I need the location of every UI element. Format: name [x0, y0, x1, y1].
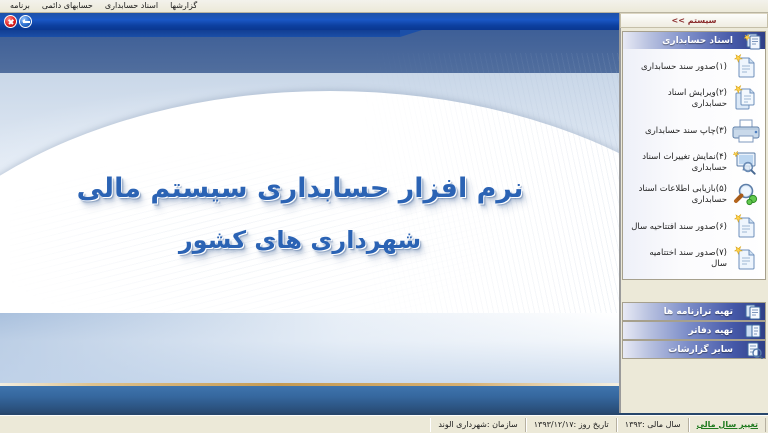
navigation-side-panel: سیستم >> اسناد حسابداری: [620, 13, 768, 415]
panel-group-balance-sheets: تهیه ترازنامه ها: [622, 302, 766, 321]
balance-sheet-icon: [743, 303, 763, 321]
application-window: برنامه حسابهای دائمی اسناد حسابداری گزار…: [0, 0, 768, 433]
menu-item-sanad-eftetahieh[interactable]: (۶)صدور سند افتتاحیه سال: [623, 211, 765, 243]
panel-body-accounting-documents: (۱)صدور سند حسابداری (۲): [623, 49, 765, 279]
menu-item-label: (۱)صدور سند حسابداری: [627, 62, 729, 73]
splash-background: نرم افزار حسابداری سیستم مالی شهرداری ها…: [0, 13, 620, 415]
panel-header-accounting-documents[interactable]: اسناد حسابداری: [623, 32, 765, 49]
splash-title-line2: شهرداری های کشور: [0, 226, 600, 254]
menu-gozareshha[interactable]: گزارشها: [164, 0, 203, 12]
back-arrow-icon[interactable]: [19, 15, 32, 28]
close-year-document-star-icon: [729, 245, 763, 273]
system-header[interactable]: سیستم >>: [620, 13, 768, 28]
menu-asnad-hesabdari[interactable]: اسناد حسابداری: [99, 0, 164, 12]
horizon-blue-band: [0, 386, 620, 415]
system-header-label: سیستم >>: [672, 16, 717, 25]
status-bar: سازمان :شهرداری الوند تاریخ روز :۱۳۹۳/۱۲…: [0, 415, 768, 433]
new-document-star-icon: [729, 53, 763, 81]
panel-group-ledgers: تهیه دفاتر: [622, 321, 766, 340]
menu-hesabhaye-daemi[interactable]: حسابهای دائمی: [36, 0, 99, 12]
sky-lower-gradient: [0, 313, 620, 383]
menu-item-label: (۳)چاپ سند حسابداری: [627, 126, 729, 137]
menu-item-label: (۶)صدور سند افتتاحیه سال: [627, 222, 729, 233]
status-change-fiscal-year[interactable]: تغییر سال مالی: [689, 418, 766, 432]
menu-barnameh[interactable]: برنامه: [4, 0, 36, 12]
change-fiscal-year-link[interactable]: تغییر سال مالی: [697, 418, 758, 432]
menu-item-sodoor-sanad[interactable]: (۱)صدور سند حسابداری: [623, 51, 765, 83]
monitor-search-icon: [729, 149, 763, 177]
panel-group-accounting-documents: اسناد حسابداری: [622, 31, 766, 280]
ledger-books-icon: [743, 322, 763, 340]
menu-item-namayesh-taghirat[interactable]: (۴)نمایش تغییرات اسناد حسابداری: [623, 147, 765, 179]
panel-header-ledgers[interactable]: تهیه دفاتر: [623, 322, 765, 339]
status-date: تاریخ روز :۱۳۹۳/۱۲/۱۷: [526, 418, 617, 432]
documents-icon: [743, 32, 763, 50]
menu-item-sanad-ekhtetamieh[interactable]: (۷)صدور سند اختتامیه سال: [623, 243, 765, 275]
status-organization: سازمان :شهرداری الوند: [430, 418, 525, 432]
other-reports-icon: [743, 341, 763, 359]
panel-group-other-reports: سایر گزارشات: [622, 340, 766, 359]
menu-item-label: (۲)ویرایش اسناد حسابداری: [627, 88, 729, 110]
menu-bar: برنامه حسابهای دائمی اسناد حسابداری گزار…: [0, 0, 768, 13]
close-circle-icon[interactable]: [4, 15, 17, 28]
edit-documents-star-icon: [729, 85, 763, 113]
application-toolbar: [0, 13, 620, 30]
menu-item-label: (۷)صدور سند اختتامیه سال: [627, 248, 729, 270]
panel-header-balance-sheets[interactable]: تهیه ترازنامه ها: [623, 303, 765, 320]
client-area: نرم افزار حسابداری سیستم مالی شهرداری ها…: [0, 13, 768, 415]
printer-icon: [729, 117, 763, 145]
panel-header-other-reports[interactable]: سایر گزارشات: [623, 341, 765, 358]
menu-item-chap-sanad[interactable]: (۳)چاپ سند حسابداری: [623, 115, 765, 147]
toolbar-notch: [0, 30, 400, 37]
menu-item-virayesh-asnad[interactable]: (۲)ویرایش اسناد حسابداری: [623, 83, 765, 115]
open-year-document-star-icon: [729, 213, 763, 241]
splash-title-line1: نرم افزار حسابداری سیستم مالی: [0, 173, 600, 204]
menu-item-label: (۵)بازیابی اطلاعات اسناد حسابداری: [627, 184, 729, 206]
menu-item-label: (۴)نمایش تغییرات اسناد حسابداری: [627, 152, 729, 174]
status-fiscal-year: سال مالی :۱۳۹۳: [617, 418, 689, 432]
magnifier-restore-icon: [729, 181, 763, 209]
menu-item-bazyabi-etelaat[interactable]: (۵)بازیابی اطلاعات اسناد حسابداری: [623, 179, 765, 211]
